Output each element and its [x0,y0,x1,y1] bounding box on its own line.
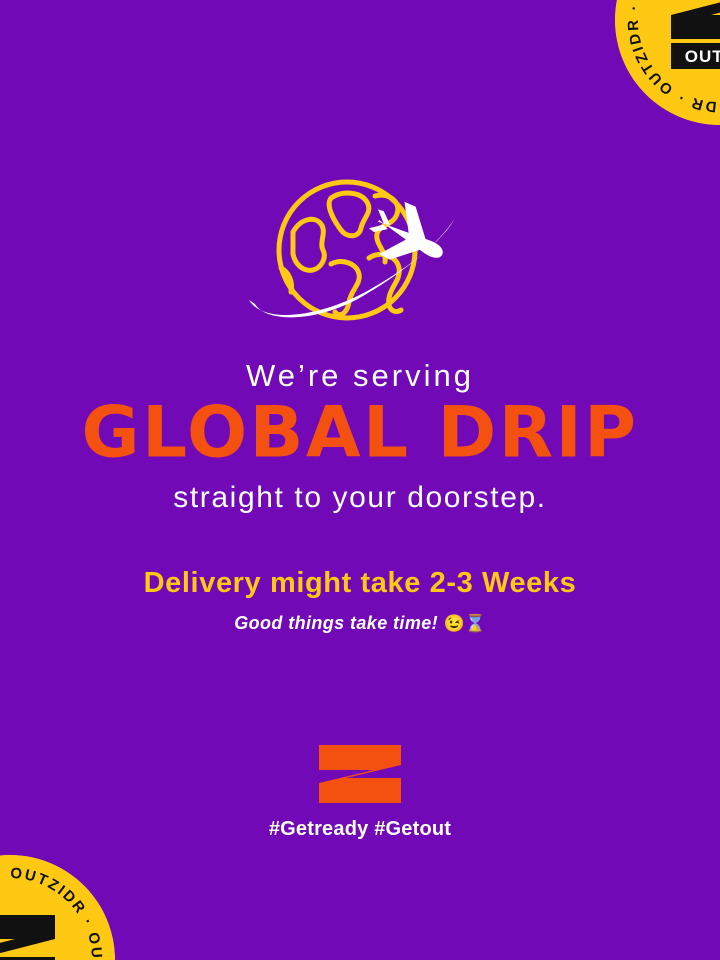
poster-canvas: OUTZIDR · OUTZIDR · OUTZIDR · OUTZIDR · … [0,0,720,960]
reassurance-line: Good things take time! 😉⌛ [0,614,720,632]
badge-inner-label-top-right: OUTZIDR [685,47,720,66]
badge-top-right: OUTZIDR · OUTZIDR · OUTZIDR · OUTZIDR · … [615,0,720,125]
copy-block: We’re serving GLOBAL DRIP straight to yo… [0,360,720,632]
wink-hourglass-emoji: 😉⌛ [443,614,485,633]
subhead-text: straight to your doorstep. [0,483,720,513]
footer-block: #Getready #Getout [0,745,720,839]
headline-text: GLOBAL DRIP [0,391,720,476]
globe-airplane-illustration [0,172,720,342]
reassurance-text: Good things take time! [234,613,438,633]
delivery-notice-text: Delivery might take 2-3 Weeks [0,569,720,598]
hashtags-text: #Getready #Getout [269,819,451,839]
outzidr-z-logo [316,745,404,803]
eyebrow-text: We’re serving [0,360,720,391]
badge-bottom-left: OUTZIDR · OUTZIDR · OUTZIDR · OUTZIDR · … [0,855,115,960]
